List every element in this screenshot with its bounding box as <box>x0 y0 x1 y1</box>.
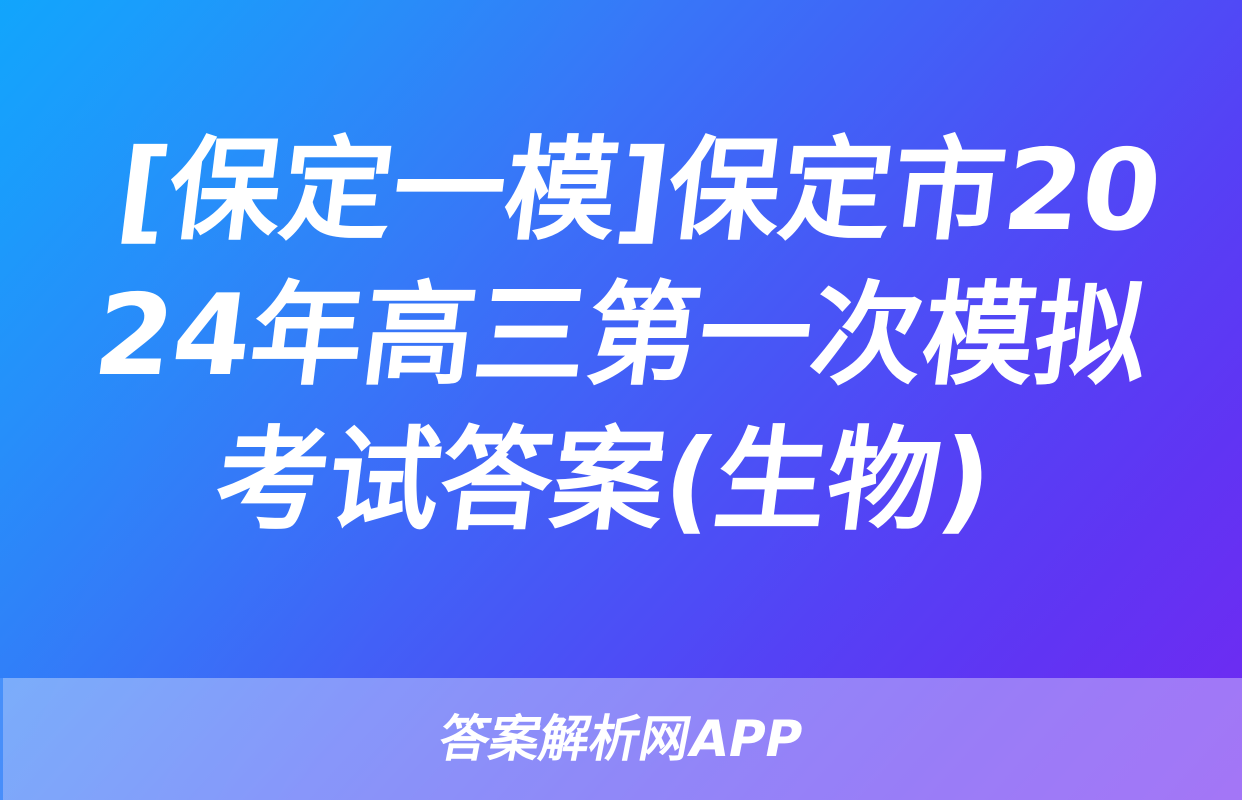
page-title: [保定一模]保定市2024年高三第一次模拟考试答案(生物) <box>54 119 1188 560</box>
title-block: [保定一模]保定市2024年高三第一次模拟考试答案(生物) <box>0 0 1242 678</box>
footer-watermark-label: 答案解析网APP <box>435 714 807 764</box>
footer-watermark: 答案解析网APP <box>0 678 1242 800</box>
poster-background: [保定一模]保定市2024年高三第一次模拟考试答案(生物) 答案解析网APP <box>0 0 1242 800</box>
